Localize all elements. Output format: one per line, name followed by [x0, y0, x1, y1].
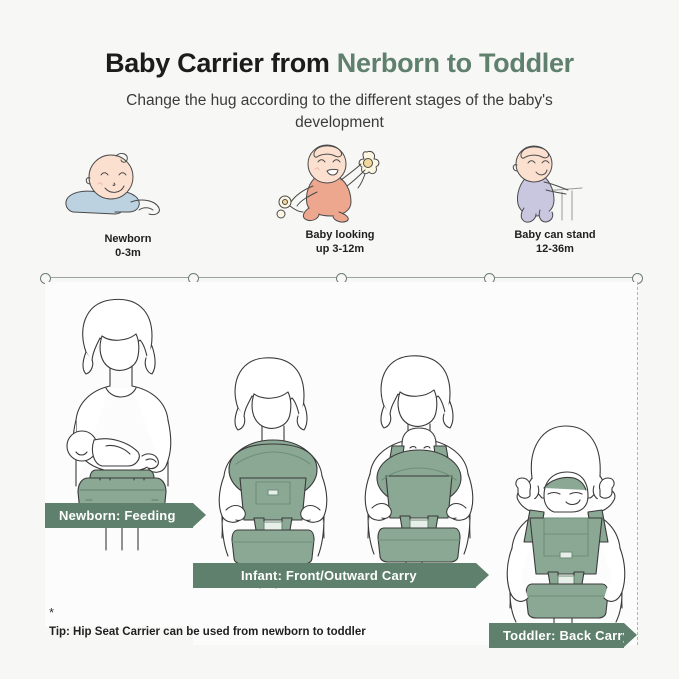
- banner-toddler-back-carry: Toddler: Back Carry: [489, 623, 624, 648]
- baby-standing-holding-rail-icon: [470, 146, 640, 222]
- page-title-plain: Baby Carrier from: [105, 48, 337, 78]
- stage-newborn-label: Newborn0-3m: [43, 232, 213, 260]
- banner-arrow-tip: [624, 623, 637, 647]
- baby-sitting-with-rattle-icon: [255, 146, 425, 222]
- stage-baby-can-stand: Baby can stand12-36m: [470, 146, 640, 256]
- stage-baby-looking-up: Baby lookingup 3-12m: [255, 146, 425, 256]
- page-title: Baby Carrier from Nerborn to Toddler: [0, 48, 679, 79]
- banner-infant-front-outward-carry: Infant: Front/Outward Carry: [193, 563, 476, 588]
- timeline-dropline-5: [637, 282, 638, 645]
- infographic-page: Baby Carrier from Nerborn to Toddler Cha…: [0, 0, 679, 679]
- stage-baby-can-stand-label: Baby can stand12-36m: [470, 228, 640, 256]
- page-subtitle: Change the hug according to the differen…: [100, 90, 579, 134]
- banner-newborn-feeding: Newborn: Feeding: [45, 503, 193, 528]
- toddler-back-carry-illustration: [492, 422, 637, 622]
- baby-lying-tummy-icon: [43, 150, 213, 226]
- infant-outward-carry-illustration: [344, 352, 489, 567]
- stage-newborn: Newborn0-3m: [43, 150, 213, 260]
- banner-arrow-tip: [193, 503, 206, 527]
- stage-baby-looking-up-label: Baby lookingup 3-12m: [255, 228, 425, 256]
- banner-arrow-tip: [476, 563, 489, 587]
- infant-front-carry-illustration: [198, 352, 343, 567]
- banner-infant-front-outward-carry-label: Infant: Front/Outward Carry: [193, 568, 417, 583]
- page-title-accent: Nerborn to Toddler: [337, 48, 574, 78]
- tip-asterisk: *: [49, 605, 54, 620]
- banner-newborn-feeding-label: Newborn: Feeding: [45, 508, 176, 523]
- newborn-feeding-illustration: [48, 290, 193, 520]
- banner-toddler-back-carry-label: Toddler: Back Carry: [489, 628, 630, 643]
- tip-text: Tip: Hip Seat Carrier can be used from n…: [49, 626, 366, 638]
